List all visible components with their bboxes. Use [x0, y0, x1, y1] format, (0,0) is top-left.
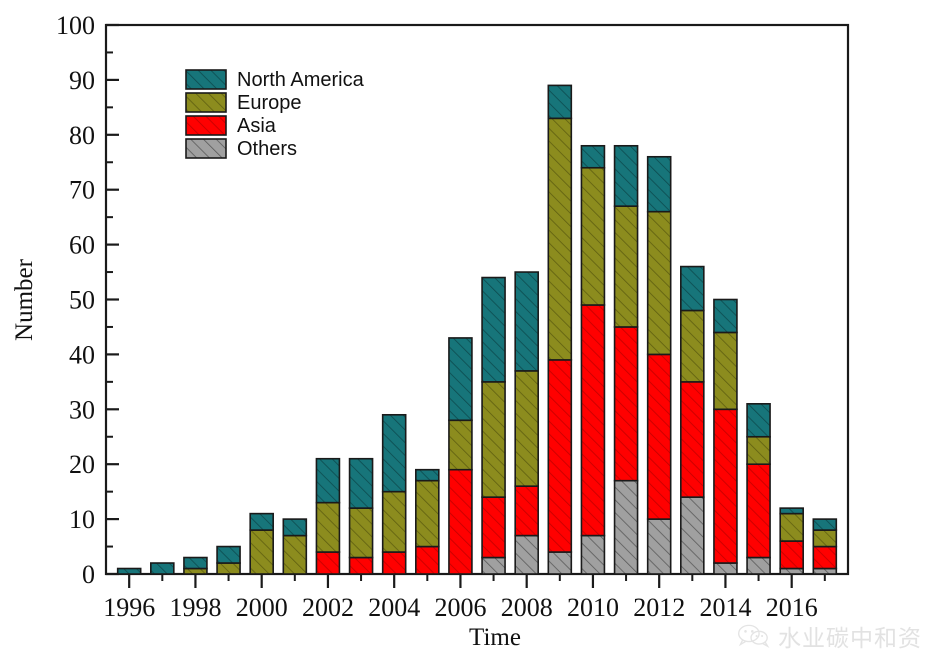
bar-segment	[747, 437, 770, 464]
bar-segment	[681, 497, 704, 574]
bar-segment	[316, 459, 339, 503]
bar-stack	[118, 569, 141, 574]
bar-segment	[118, 569, 141, 574]
bar-segment	[482, 382, 505, 497]
bar-segment	[780, 569, 803, 574]
bar-segment	[681, 310, 704, 381]
bar-segment	[482, 278, 505, 382]
y-tick-label: 100	[56, 11, 95, 40]
bar-stack	[714, 300, 737, 575]
bar-segment	[250, 530, 273, 574]
y-tick-label: 50	[69, 286, 95, 315]
bar-stack	[316, 459, 339, 574]
bar-segment	[813, 547, 836, 569]
bar-segment	[714, 409, 737, 563]
bar-segment	[217, 563, 240, 574]
bar-segment	[615, 481, 638, 574]
x-tick-label: 1996	[103, 593, 155, 622]
x-tick-label: 1998	[169, 593, 221, 622]
bar-segment	[681, 382, 704, 497]
bar-segment	[548, 118, 571, 360]
x-tick-label: 2012	[633, 593, 685, 622]
x-tick-label: 2004	[368, 593, 420, 622]
bar-segment	[449, 470, 472, 574]
bar-stack	[184, 558, 207, 574]
bar-segment	[747, 558, 770, 574]
legend-label: Asia	[237, 115, 277, 137]
bar-stack	[449, 338, 472, 574]
bar-segment	[813, 569, 836, 574]
bar-stack	[648, 157, 671, 574]
bar-segment	[813, 519, 836, 530]
bar-segment	[449, 420, 472, 469]
bar-segment	[581, 536, 604, 574]
bar-segment	[615, 146, 638, 206]
bar-segment	[515, 536, 538, 574]
y-tick-label: 60	[69, 231, 95, 260]
y-tick-label: 40	[69, 340, 95, 369]
y-tick-label: 0	[82, 560, 95, 589]
bar-segment	[615, 206, 638, 327]
bar-stack	[482, 278, 505, 574]
bar-segment	[714, 563, 737, 574]
bar-segment	[648, 354, 671, 519]
bar-segment	[813, 530, 836, 546]
x-tick-label: 2000	[236, 593, 288, 622]
y-tick-label: 70	[69, 176, 95, 205]
bar-segment	[316, 552, 339, 574]
legend-swatch	[186, 70, 226, 89]
x-tick-label: 2016	[766, 593, 818, 622]
bar-segment	[615, 327, 638, 481]
y-tick-label: 90	[69, 66, 95, 95]
y-tick-label: 30	[69, 395, 95, 424]
bar-segment	[648, 157, 671, 212]
bar-segment	[548, 552, 571, 574]
bar-stack	[747, 404, 770, 574]
bar-segment	[416, 481, 439, 547]
bar-segment	[383, 552, 406, 574]
bar-stack	[548, 85, 571, 574]
bar-segment	[350, 508, 373, 557]
bar-segment	[581, 305, 604, 536]
bar-segment	[350, 558, 373, 574]
bar-segment	[151, 563, 174, 574]
bar-segment	[780, 508, 803, 513]
legend-swatch	[186, 93, 226, 112]
bar-segment	[548, 85, 571, 118]
bar-segment	[217, 547, 240, 563]
bar-segment	[515, 272, 538, 371]
x-tick-label: 2002	[302, 593, 354, 622]
bar-segment	[184, 569, 207, 574]
stacked-bar-chart: 0102030405060708090100 19961998200020022…	[0, 0, 928, 661]
bar-stack	[581, 146, 604, 574]
bar-segment	[515, 371, 538, 486]
y-axis-title: Number	[11, 258, 38, 341]
bar-segment	[250, 514, 273, 530]
bar-stack	[780, 508, 803, 574]
bar-segment	[648, 212, 671, 355]
y-tick-label: 20	[69, 450, 95, 479]
legend-swatch	[186, 139, 226, 158]
bar-stack	[250, 514, 273, 574]
bar-segment	[714, 332, 737, 409]
bar-segment	[681, 267, 704, 311]
bar-segment	[780, 541, 803, 568]
bar-segment	[350, 459, 373, 508]
bar-stack	[383, 415, 406, 574]
bar-stack	[151, 563, 174, 574]
x-tick-label: 2006	[434, 593, 486, 622]
bar-segment	[283, 536, 306, 574]
x-axis-tick-labels: 1996199820002002200420062008201020122014…	[103, 593, 818, 622]
bar-segment	[515, 486, 538, 535]
x-tick-label: 2010	[567, 593, 619, 622]
bar-stack	[813, 519, 836, 574]
bar-segment	[283, 519, 306, 535]
bar-segment	[482, 558, 505, 574]
bar-segment	[548, 360, 571, 552]
y-tick-label: 10	[69, 505, 95, 534]
legend-label: Europe	[237, 92, 302, 114]
x-axis-title: Time	[469, 624, 521, 651]
bar-stack	[615, 146, 638, 574]
legend-label: Others	[237, 138, 297, 160]
x-tick-label: 2014	[699, 593, 751, 622]
bar-stack	[283, 519, 306, 574]
legend-swatch	[186, 116, 226, 135]
bar-segment	[184, 558, 207, 569]
bar-segment	[747, 404, 770, 437]
bar-stack	[416, 470, 439, 574]
bar-segment	[648, 519, 671, 574]
bar-segment	[581, 168, 604, 305]
bar-segment	[581, 146, 604, 168]
bar-segment	[482, 497, 505, 557]
legend-label: North America	[237, 69, 365, 91]
bar-segment	[449, 338, 472, 420]
x-tick-label: 2008	[501, 593, 553, 622]
bar-segment	[780, 514, 803, 541]
y-tick-label: 80	[69, 121, 95, 150]
bar-stack	[515, 272, 538, 574]
bar-segment	[747, 464, 770, 557]
bar-segment	[383, 415, 406, 492]
bar-segment	[316, 503, 339, 552]
bar-segment	[714, 300, 737, 333]
bar-segment	[383, 492, 406, 552]
bar-segment	[416, 547, 439, 574]
bar-stack	[350, 459, 373, 574]
bar-segment	[416, 470, 439, 481]
bar-stack	[217, 547, 240, 574]
bar-stack	[681, 267, 704, 574]
